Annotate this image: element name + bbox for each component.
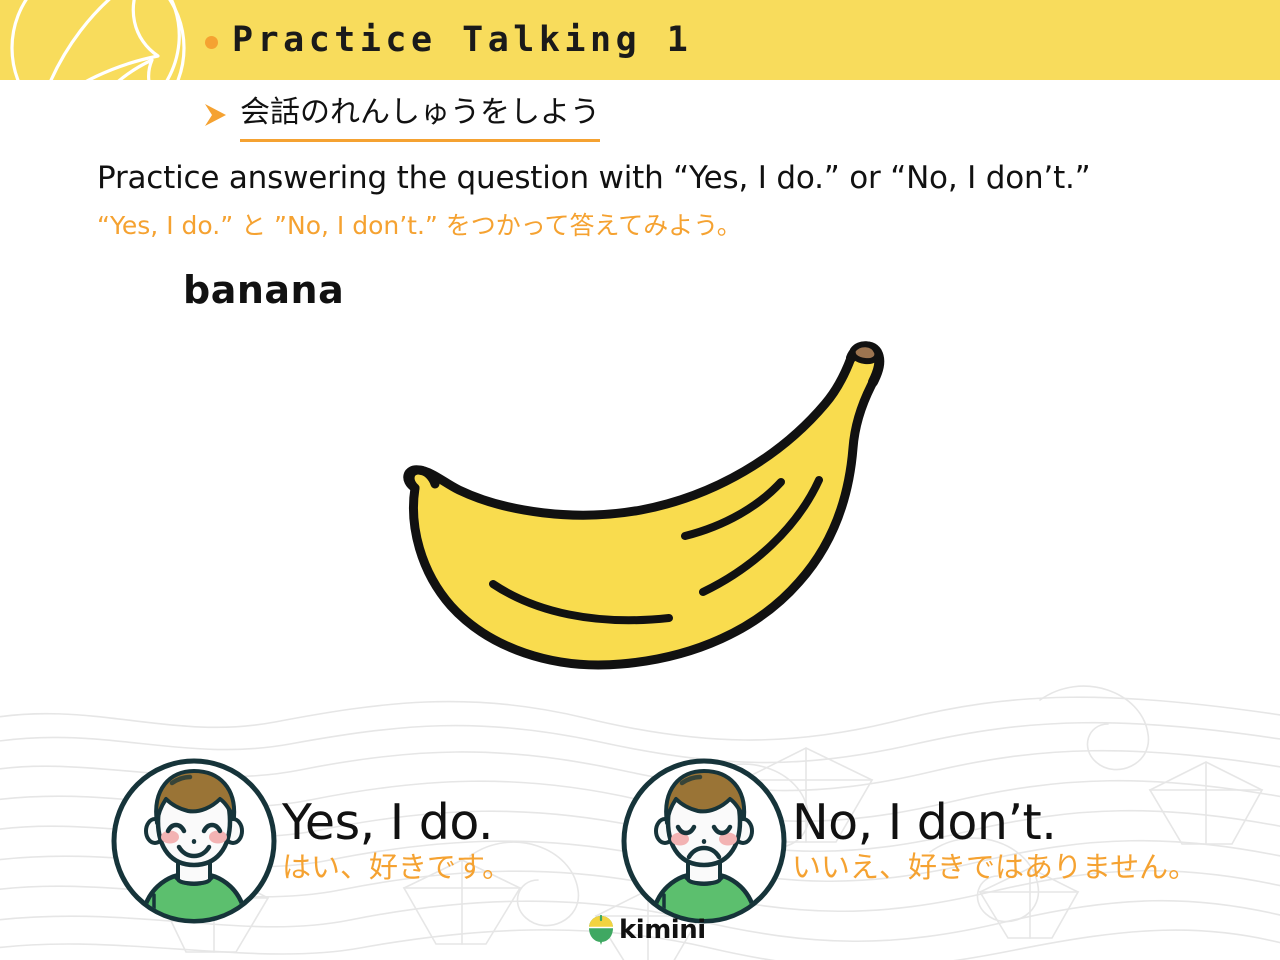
vocabulary-word: banana [183,268,344,312]
triangle-right-icon [202,102,228,128]
kimini-logo-text: kimini [619,915,706,945]
answer-option-no[interactable]: No, I don’t. いいえ、好きではありません。 [618,755,1197,927]
subtitle-row: 会話のれんしゅうをしよう [202,95,600,142]
instruction-japanese: “Yes, I do.” と ”No, I don’t.” をつかって答えてみよ… [97,206,742,242]
answer-english: Yes, I do. [282,798,511,847]
banana-icon [385,330,905,680]
answer-english: No, I don’t. [792,798,1197,847]
instruction-english: Practice answering the question with “Ye… [97,160,1091,196]
header-title-group: Practice Talking 1 [205,0,692,80]
leaf-outline-icon [0,0,224,80]
kimini-logo: kimini [588,915,706,945]
happy-boy-avatar-icon [108,755,280,927]
answer-text-group: No, I don’t. いいえ、好きではありません。 [792,798,1197,884]
answer-japanese: はい、好きです。 [282,851,511,884]
subtitle-text: 会話のれんしゅうをしよう [240,95,600,142]
kimini-acorn-icon [588,915,614,945]
sad-boy-avatar-icon [618,755,790,927]
slide-canvas: Practice Talking 1 会話のれんしゅうをしよう Practice… [0,0,1280,960]
answer-japanese: いいえ、好きではありません。 [792,851,1197,884]
answer-option-yes[interactable]: Yes, I do. はい、好きです。 [108,755,511,927]
page-title: Practice Talking 1 [232,20,692,60]
header-band: Practice Talking 1 [0,0,1280,80]
dot-icon [205,36,218,49]
answer-text-group: Yes, I do. はい、好きです。 [282,798,511,884]
